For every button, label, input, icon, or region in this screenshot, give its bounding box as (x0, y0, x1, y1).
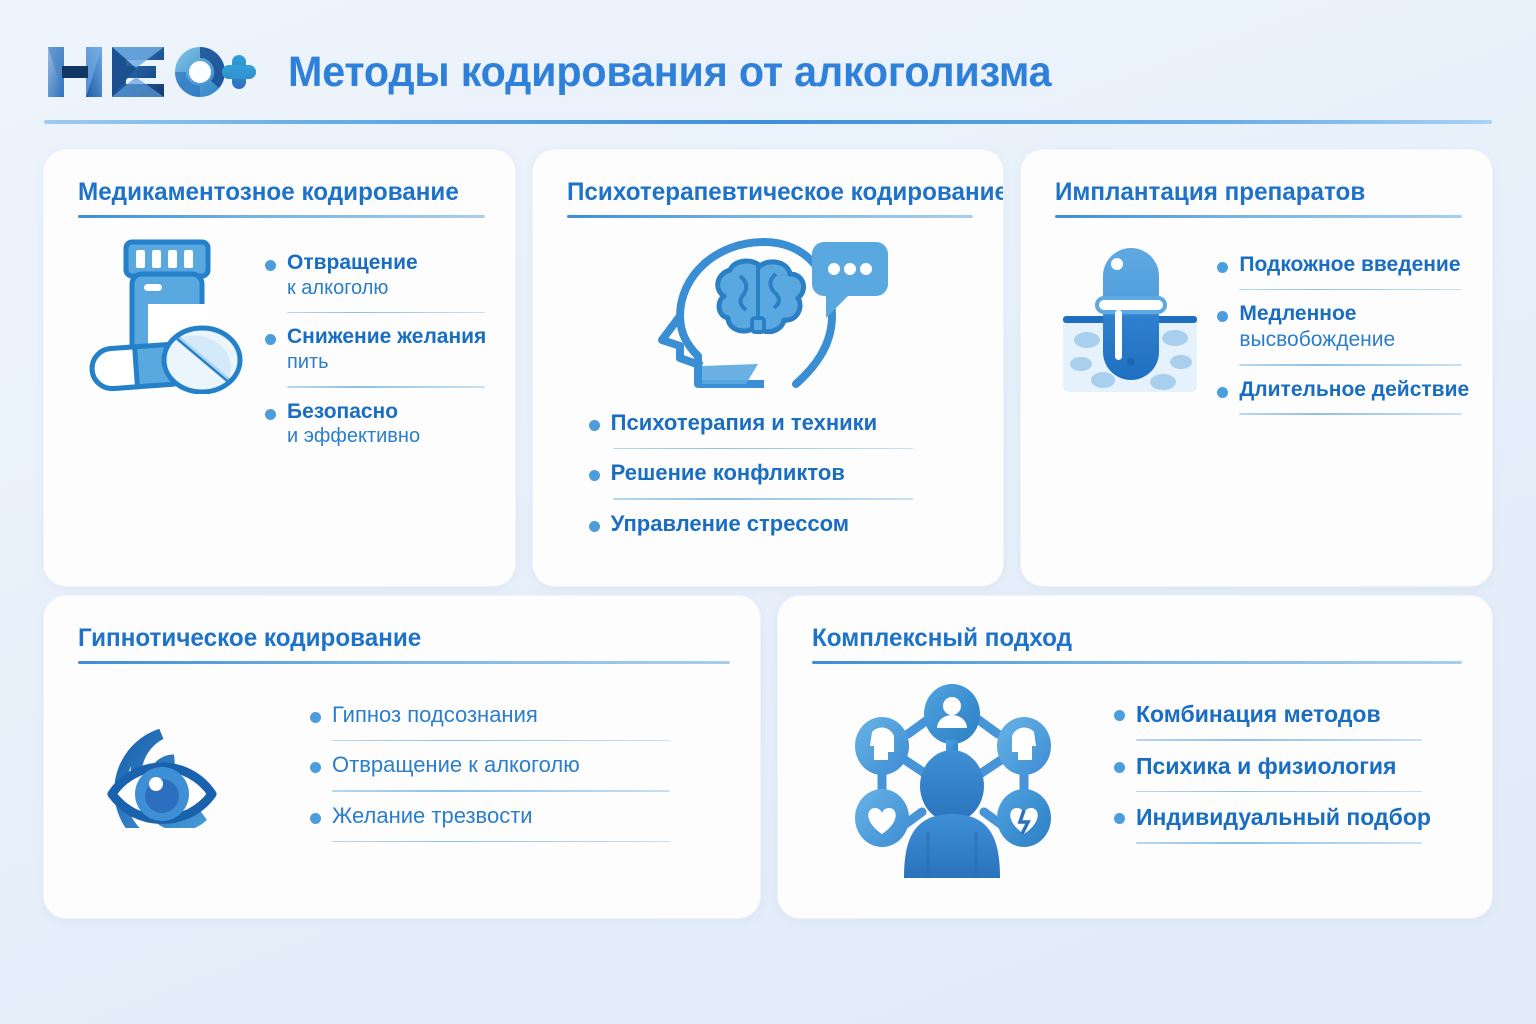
neo-plus-logo (44, 41, 258, 103)
bullet-primary: Отвращение к алкоголю (332, 752, 580, 777)
list-item: Управление стрессом (589, 511, 974, 538)
bullet-divider (287, 312, 485, 314)
bullet-dot-icon (265, 409, 276, 420)
list-item: Медленное высвобождение (1217, 301, 1462, 353)
bullet-divider (1136, 791, 1422, 793)
card-implantation[interactable]: Имплантация препаратов (1021, 150, 1492, 586)
card-title-divider (78, 661, 730, 664)
head-brain-speech-icon (646, 234, 894, 396)
bullet-divider (613, 498, 914, 500)
network-people-icon (842, 682, 1052, 878)
card-title-implantation: Имплантация препаратов (1055, 178, 1449, 206)
card-medication[interactable]: Медикаментозное кодирование (44, 150, 515, 586)
list-item: Индивидуальный подбор (1114, 803, 1462, 831)
bullet-primary: Снижение желания (287, 325, 486, 348)
infographic-page: Методы кодирования от алкоголизма Медика… (0, 0, 1536, 1024)
bullet-primary: Гипноз подсознания (332, 702, 538, 727)
bullet-primary: Комбинация методов (1136, 701, 1381, 727)
list-item: Психотерапия и техники (589, 410, 974, 437)
list-item: Гипноз подсознания (310, 702, 730, 729)
card-title-divider (78, 215, 485, 218)
cards-row-bottom: Гипнотическое кодирование (44, 596, 1492, 918)
bullet-divider (613, 448, 914, 450)
header-divider (44, 120, 1492, 124)
list-item: Подкожное введение (1217, 252, 1462, 278)
bullet-dot-icon (310, 813, 321, 824)
bullet-primary: Решение конфликтов (611, 460, 845, 485)
bullet-primary: Длительное действие (1239, 378, 1469, 401)
card-title-medication: Медикаментозное кодирование (78, 178, 472, 206)
bullet-primary: Медленное (1239, 302, 1356, 325)
bullet-dot-icon (1217, 262, 1228, 273)
bullet-primary: Желание трезвости (332, 803, 533, 828)
bullet-primary: Подкожное введение (1239, 253, 1460, 276)
bullet-secondary: к алкоголю (287, 277, 388, 299)
bullet-list-hypnotic: Гипноз подсознания Отвращение к алкоголю (294, 680, 730, 853)
list-item: Желание трезвости (310, 803, 730, 830)
card-title-complex-approach: Комплексный подход (812, 624, 1443, 652)
bullet-secondary: высвобождение (1239, 328, 1395, 351)
card-complex-approach[interactable]: Комплексный подход (778, 596, 1492, 918)
bullet-dot-icon (589, 521, 600, 532)
card-title-psychotherapeutic: Психотерапевтическое кодирование (567, 178, 961, 206)
list-item: Отвращение к алкоголю (310, 752, 730, 779)
card-title-divider (1055, 215, 1462, 218)
bullet-divider (1136, 842, 1422, 844)
bullet-primary: Психика и физиология (1136, 753, 1396, 779)
bullet-dot-icon (265, 260, 276, 271)
bullet-divider (1239, 413, 1462, 415)
bullet-dot-icon (1217, 387, 1228, 398)
cards-row-top: Медикаментозное кодирование (44, 150, 1492, 586)
bullet-divider (332, 740, 670, 742)
list-item: Комбинация методов (1114, 700, 1462, 728)
bullet-dot-icon (1114, 762, 1125, 773)
bullet-dot-icon (589, 420, 600, 431)
list-item: Снижение желания пить (265, 324, 485, 375)
card-title-divider (812, 661, 1462, 664)
bullet-list-psychotherapeutic: Психотерапия и техники Решение конфликто… (567, 410, 974, 548)
list-item: Длительное действие (1217, 377, 1462, 403)
bullet-primary: Управление стрессом (611, 511, 849, 536)
card-title-divider (567, 215, 974, 218)
bullet-secondary: пить (287, 351, 329, 373)
bullet-dot-icon (1217, 311, 1228, 322)
bullet-divider (287, 386, 485, 388)
bullet-divider (1239, 289, 1462, 291)
bullet-dot-icon (1114, 813, 1125, 824)
bullet-divider (1239, 364, 1462, 366)
bullet-list-complex-approach: Комбинация методов Психика и физиология (1090, 680, 1462, 855)
bullet-dot-icon (1114, 710, 1125, 721)
bullet-dot-icon (589, 470, 600, 481)
bullet-divider (332, 841, 670, 843)
bullet-primary: Психотерапия и техники (611, 410, 878, 435)
bullet-primary: Отвращение (287, 251, 418, 274)
card-psychotherapeutic[interactable]: Психотерапевтическое кодирование (533, 150, 1004, 586)
list-item: Психика и физиология (1114, 752, 1462, 780)
bullet-list-medication: Отвращение к алкоголю Снижение желания п… (265, 234, 485, 450)
page-header: Методы кодирования от алкоголизма (44, 34, 1492, 110)
bullet-divider (1136, 739, 1422, 741)
pill-bottle-icon (78, 234, 253, 394)
list-item: Отвращение к алкоголю (265, 250, 485, 301)
bullet-primary: Индивидуальный подбор (1136, 804, 1431, 830)
bullet-divider (332, 790, 670, 792)
card-hypnotic[interactable]: Гипнотическое кодирование (44, 596, 760, 918)
card-title-hypnotic: Гипнотическое кодирование (78, 624, 710, 652)
bullet-list-implantation: Подкожное введение Медленное высвобожден… (1217, 234, 1462, 426)
list-item: Решение конфликтов (589, 460, 974, 487)
bullet-dot-icon (310, 762, 321, 773)
list-item: Безопасно и эффективно (265, 399, 485, 450)
bullet-dot-icon (310, 712, 321, 723)
page-title: Методы кодирования от алкоголизма (288, 51, 1051, 94)
implant-capsule-icon (1055, 240, 1205, 400)
bullet-dot-icon (265, 334, 276, 345)
bullet-primary: Безопасно (287, 400, 398, 423)
bullet-secondary: и эффективно (287, 425, 420, 447)
hypnosis-eye-icon (106, 688, 258, 828)
